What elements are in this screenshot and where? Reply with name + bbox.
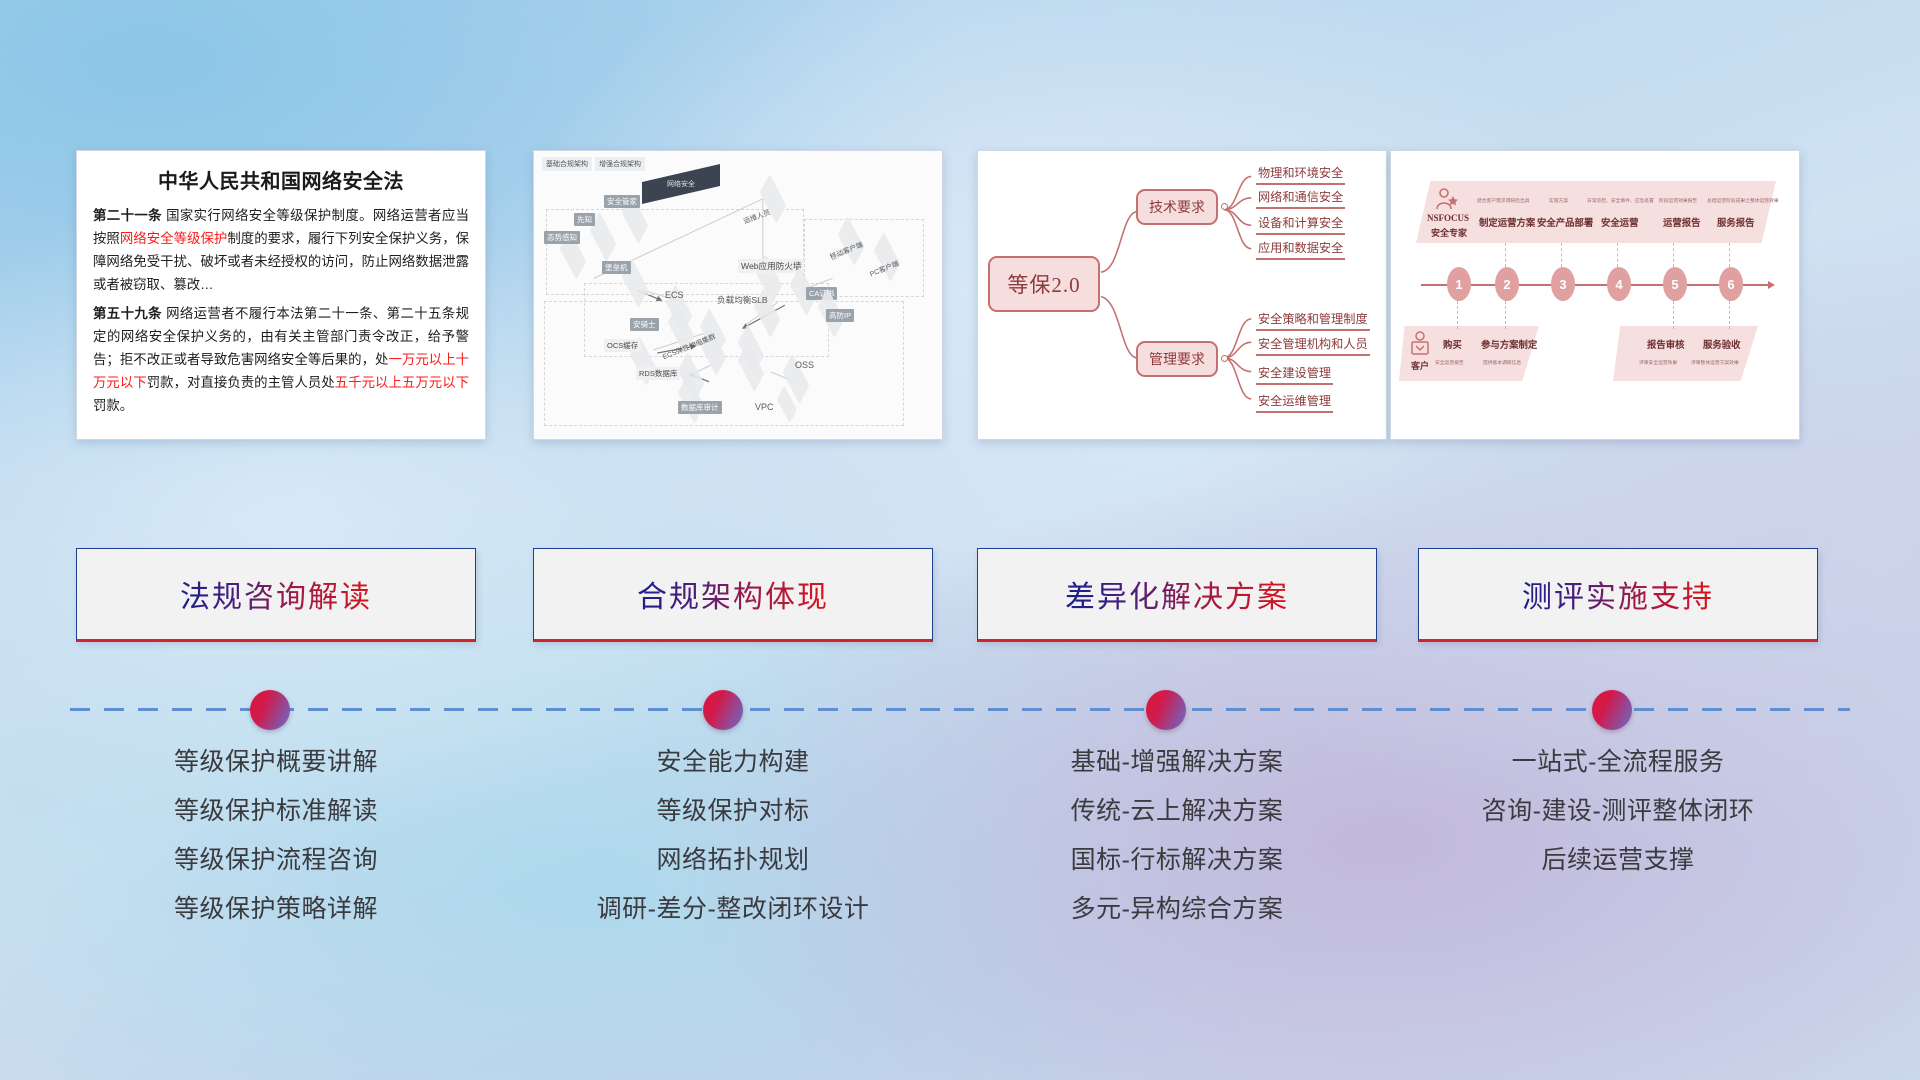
law-article-59: 第五十九条 网络运营者不履行本法第二十一条、第二十五条规定的网络安全保护义务的，… bbox=[93, 302, 469, 417]
architecture-label-aegis: 安骑士 bbox=[630, 318, 659, 331]
law-article-59-text-b: 罚款，对直接负责的主管人员处 bbox=[147, 375, 335, 390]
detail-column-regulation: 等级保护概要讲解 等级保护标准解读 等级保护流程咨询 等级保护策略详解 bbox=[76, 740, 476, 936]
card-cloud-architecture[interactable]: 基础合规架构 增强合规架构 bbox=[533, 150, 943, 440]
timeline-caption: 参与方案制定 bbox=[1481, 337, 1537, 351]
section-title-text: 测评实施支持 bbox=[1522, 572, 1714, 616]
customer-avatar-icon bbox=[1409, 331, 1431, 357]
timeline-subcaption: 阶段运营效果报告 bbox=[1659, 197, 1697, 203]
mindmap-leaf: 安全管理机构和人员 bbox=[1256, 334, 1370, 356]
timeline-connector bbox=[1505, 243, 1506, 267]
architecture-label-ecs: ECS bbox=[662, 289, 687, 301]
timeline-connector bbox=[1561, 243, 1562, 267]
section-title-text: 差异化解决方案 bbox=[1065, 572, 1289, 616]
timeline-subcaption: 总结运营阶段成果之整体运营效果 bbox=[1707, 197, 1779, 203]
mindmap-branch-technical: 技术要求 bbox=[1136, 189, 1218, 225]
expert-role-line1: NSFOCUS bbox=[1427, 213, 1469, 223]
timeline-node-4[interactable] bbox=[1592, 690, 1632, 730]
architecture-label-situational-awareness: 态势感知 bbox=[544, 231, 580, 244]
detail-column-architecture: 安全能力构建 等级保护对标 网络拓扑规划 调研-差分-整改闭环设计 bbox=[533, 740, 933, 936]
timeline-caption: 安全运营 bbox=[1601, 215, 1639, 229]
mindmap-leaf: 物理和环境安全 bbox=[1256, 163, 1345, 185]
list-item: 安全能力构建 bbox=[533, 740, 933, 789]
timeline-caption: 服务验收 bbox=[1703, 337, 1741, 351]
mindmap-leaf: 安全运维管理 bbox=[1256, 391, 1333, 413]
timeline-connector bbox=[1673, 301, 1674, 329]
architecture-node-icon bbox=[586, 227, 620, 247]
timeline-subcaption: 安全运营报告 bbox=[1435, 359, 1464, 365]
customer-role-label: 客户 bbox=[1411, 359, 1429, 372]
architecture-node-icon bbox=[774, 397, 800, 412]
list-item: 一站式-全流程服务 bbox=[1418, 740, 1818, 789]
section-title-box-architecture[interactable]: 合规架构体现 bbox=[533, 548, 933, 642]
timeline-node-1[interactable] bbox=[250, 690, 290, 730]
mindmap-root: 等保2.0 bbox=[988, 256, 1100, 312]
list-item: 等级保护流程咨询 bbox=[76, 838, 476, 887]
architecture-label-db-audit: 数据库审计 bbox=[678, 401, 722, 414]
timeline-caption: 购买 bbox=[1443, 337, 1462, 351]
section-title-box-solutions[interactable]: 差异化解决方案 bbox=[977, 548, 1377, 642]
mindmap-leaf: 安全建设管理 bbox=[1256, 363, 1333, 385]
timeline-connector bbox=[1729, 243, 1730, 267]
architecture-node-icon bbox=[734, 357, 768, 377]
architecture-node-icon bbox=[618, 209, 652, 229]
architecture-label-rds: RDS数据库 bbox=[636, 367, 680, 380]
timeline-connector bbox=[1505, 301, 1506, 329]
list-item: 调研-差分-整改闭环设计 bbox=[533, 887, 933, 936]
architecture-label-anti-ddos: 高防IP bbox=[826, 309, 854, 322]
law-article-59-text-c: 罚款。 bbox=[93, 398, 133, 413]
timeline-step-marker[interactable]: 4 bbox=[1607, 267, 1631, 301]
timeline-node-2[interactable] bbox=[703, 690, 743, 730]
card-cybersecurity-law[interactable]: 中华人民共和国网络安全法 第二十一条 国家实行网络安全等级保护制度。网络运营者应… bbox=[76, 150, 486, 440]
timeline-caption: 制定运营方案 bbox=[1479, 215, 1535, 229]
preview-card-row: 中华人民共和国网络安全法 第二十一条 国家实行网络安全等级保护制度。网络运营者应… bbox=[0, 150, 1920, 445]
timeline-connector bbox=[1617, 243, 1618, 267]
list-item: 等级保护策略详解 bbox=[76, 887, 476, 936]
law-article-59-highlight-2: 五千元以上五万元以下 bbox=[335, 375, 469, 390]
timeline-step-marker[interactable]: 2 bbox=[1495, 267, 1519, 301]
architecture-label-waf: Web应用防火墙 bbox=[738, 259, 804, 273]
timeline-connector bbox=[1729, 301, 1730, 329]
architecture-dark-chip-label: 网络安全 bbox=[642, 173, 720, 195]
detail-column-solutions: 基础-增强解决方案 传统-云上解决方案 国标-行标解决方案 多元-异构综合方案 bbox=[977, 740, 1377, 936]
list-item: 后续运营支撑 bbox=[1418, 838, 1818, 887]
list-item: 国标-行标解决方案 bbox=[977, 838, 1377, 887]
timeline-subcaption: 实施方案 bbox=[1549, 197, 1568, 203]
mindmap-leaf: 设备和计算安全 bbox=[1256, 213, 1345, 235]
card-dengbao-mindmap[interactable]: 等保2.0 技术要求 物理和环境安全 网络和通信安全 设备和计算安全 应用和数据… bbox=[977, 150, 1387, 440]
mindmap-knob-icon[interactable] bbox=[1221, 355, 1228, 362]
timeline-step-marker[interactable]: 5 bbox=[1663, 267, 1687, 301]
timeline-node-3[interactable] bbox=[1146, 690, 1186, 730]
architecture-node-icon bbox=[664, 319, 698, 339]
list-item: 等级保护对标 bbox=[533, 789, 933, 838]
list-item: 等级保护标准解读 bbox=[76, 789, 476, 838]
architecture-label-xianzhi: 先知 bbox=[574, 213, 595, 226]
detail-column-assessment: 一站式-全流程服务 咨询-建设-测评整体闭环 后续运营支撑 bbox=[1418, 740, 1818, 887]
timeline-subcaption: 提供基本调研信息 bbox=[1483, 359, 1521, 365]
timeline-axis bbox=[1421, 284, 1769, 286]
architecture-node-icon bbox=[556, 245, 590, 265]
card-service-timeline[interactable]: NSFOCUS 安全专家 客户 1 2 3 4 5 6 bbox=[1390, 150, 1800, 440]
timeline-subcaption: 日常巡检、安全事件、应急处置 bbox=[1587, 197, 1654, 203]
section-title-text: 合规架构体现 bbox=[637, 572, 829, 616]
law-article-59-label: 第五十九条 bbox=[93, 306, 162, 321]
list-item: 等级保护概要讲解 bbox=[76, 740, 476, 789]
mindmap-leaf: 网络和通信安全 bbox=[1256, 187, 1345, 209]
law-title: 中华人民共和国网络安全法 bbox=[93, 165, 469, 194]
list-item: 基础-增强解决方案 bbox=[977, 740, 1377, 789]
law-article-21: 第二十一条 国家实行网络安全等级保护制度。网络运营者应当按照网络安全等级保护制度… bbox=[93, 204, 469, 296]
list-item: 传统-云上解决方案 bbox=[977, 789, 1377, 838]
law-card-body: 中华人民共和国网络安全法 第二十一条 国家实行网络安全等级保护制度。网络运营者应… bbox=[77, 151, 485, 439]
expert-avatar-icon bbox=[1433, 187, 1459, 213]
section-title-box-assessment[interactable]: 测评实施支持 bbox=[1418, 548, 1818, 642]
timeline-band-customer-right bbox=[1613, 326, 1758, 381]
architecture-label-security-butler: 安全管家 bbox=[604, 195, 640, 208]
architecture-label-slb: 负载均衡SLB bbox=[714, 293, 771, 307]
timeline-step-marker[interactable]: 3 bbox=[1551, 267, 1575, 301]
timeline-caption: 安全产品部署 bbox=[1537, 215, 1593, 229]
architecture-label-oss: OSS bbox=[792, 359, 817, 371]
list-item: 网络拓扑规划 bbox=[533, 838, 933, 887]
timeline-band-expert bbox=[1416, 181, 1776, 243]
architecture-label-vpc: VPC bbox=[752, 401, 777, 413]
timeline-subcaption: 评审整体运营方案效果 bbox=[1691, 359, 1739, 365]
architecture-diagram: 基础合规架构 增强合规架构 bbox=[534, 151, 942, 439]
list-item: 多元-异构综合方案 bbox=[977, 887, 1377, 936]
expert-role-line2: 安全专家 bbox=[1431, 226, 1467, 239]
section-title-text: 法规咨询解读 bbox=[180, 572, 372, 616]
law-article-21-label: 第二十一条 bbox=[93, 208, 162, 223]
mindmap-leaf: 安全策略和管理制度 bbox=[1256, 309, 1370, 331]
list-item: 咨询-建设-测评整体闭环 bbox=[1418, 789, 1818, 838]
service-timeline: NSFOCUS 安全专家 客户 1 2 3 4 5 6 bbox=[1391, 151, 1799, 439]
timeline-subcaption: 评审安全运营效果 bbox=[1639, 359, 1677, 365]
law-article-21-highlight: 网络安全等级保护 bbox=[120, 231, 227, 246]
architecture-label-ocs-cache: OCS缓存 bbox=[604, 339, 641, 352]
timeline-caption: 报告审核 bbox=[1647, 337, 1685, 351]
timeline-dashed-line bbox=[70, 708, 1850, 711]
architecture-node-icon bbox=[756, 189, 790, 209]
timeline-caption: 运营报告 bbox=[1663, 215, 1701, 229]
mindmap-branch-management: 管理要求 bbox=[1136, 341, 1218, 377]
timeline-connector bbox=[1673, 243, 1674, 267]
architecture-node-icon bbox=[618, 273, 652, 293]
timeline-subcaption: 结合客户需求调研后出具 bbox=[1477, 197, 1530, 203]
timeline-step-marker[interactable]: 1 bbox=[1447, 267, 1471, 301]
progress-timeline bbox=[0, 690, 1920, 730]
section-title-box-regulation[interactable]: 法规咨询解读 bbox=[76, 548, 476, 642]
mindmap: 等保2.0 技术要求 物理和环境安全 网络和通信安全 设备和计算安全 应用和数据… bbox=[978, 151, 1386, 439]
architecture-label-bastion-host: 堡垒机 bbox=[602, 261, 631, 274]
timeline-connector bbox=[1457, 301, 1458, 329]
section-detail-columns: 等级保护概要讲解 等级保护标准解读 等级保护流程咨询 等级保护策略详解 安全能力… bbox=[0, 740, 1920, 980]
timeline-caption: 服务报告 bbox=[1717, 215, 1755, 229]
timeline-step-marker[interactable]: 6 bbox=[1719, 267, 1743, 301]
mindmap-leaf: 应用和数据安全 bbox=[1256, 238, 1345, 260]
section-title-row: 法规咨询解读 合规架构体现 差异化解决方案 测评实施支持 bbox=[0, 548, 1920, 648]
mindmap-knob-icon[interactable] bbox=[1221, 203, 1228, 210]
